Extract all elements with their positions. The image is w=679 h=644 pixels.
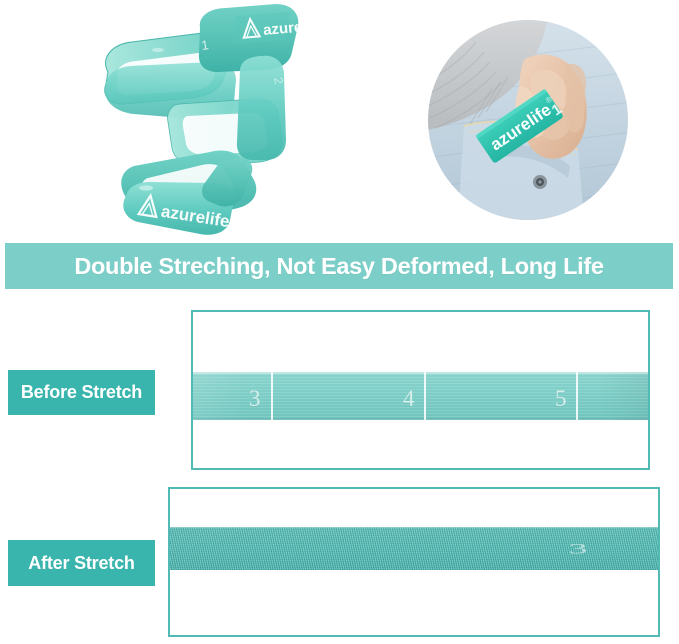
label-after-stretch-text: After Stretch — [28, 553, 134, 574]
band-edge-top — [168, 527, 660, 528]
band-divider — [271, 372, 273, 420]
frame-before-stretch: 3 4 5 — [191, 310, 650, 470]
band-divider — [424, 372, 426, 420]
frame-after-stretch: 3 — [168, 487, 660, 637]
band-divider — [576, 372, 578, 420]
product-photo-coiled-strap: azurelife azurelife 1 2 — [60, 0, 390, 235]
band-stretched-number: 3 — [569, 541, 588, 558]
band-segment-number: 3 — [249, 386, 261, 412]
strap-illustration: azurelife azurelife 1 2 — [60, 0, 390, 235]
infographic-canvas: azurelife azurelife 1 2 — [0, 0, 679, 644]
headline-banner: Double Streching, Not Easy Deformed, Lon… — [5, 243, 673, 289]
band-segment-number: 5 — [555, 386, 567, 412]
band-after-stretch: 3 — [168, 527, 660, 570]
label-before-stretch-text: Before Stretch — [21, 382, 142, 403]
label-before-stretch: Before Stretch — [8, 370, 155, 415]
headline-text: Double Streching, Not Easy Deformed, Lon… — [74, 253, 603, 280]
pocket-illustration: azurelife ® 1 — [428, 20, 628, 220]
product-photo-pocket-circle: azurelife ® 1 — [428, 20, 628, 220]
band-before-stretch: 3 4 5 — [191, 372, 650, 420]
label-after-stretch: After Stretch — [8, 540, 155, 586]
band-segment-number: 4 — [403, 386, 415, 412]
band-edge-top — [191, 372, 650, 374]
band-edge-bottom — [191, 418, 650, 420]
